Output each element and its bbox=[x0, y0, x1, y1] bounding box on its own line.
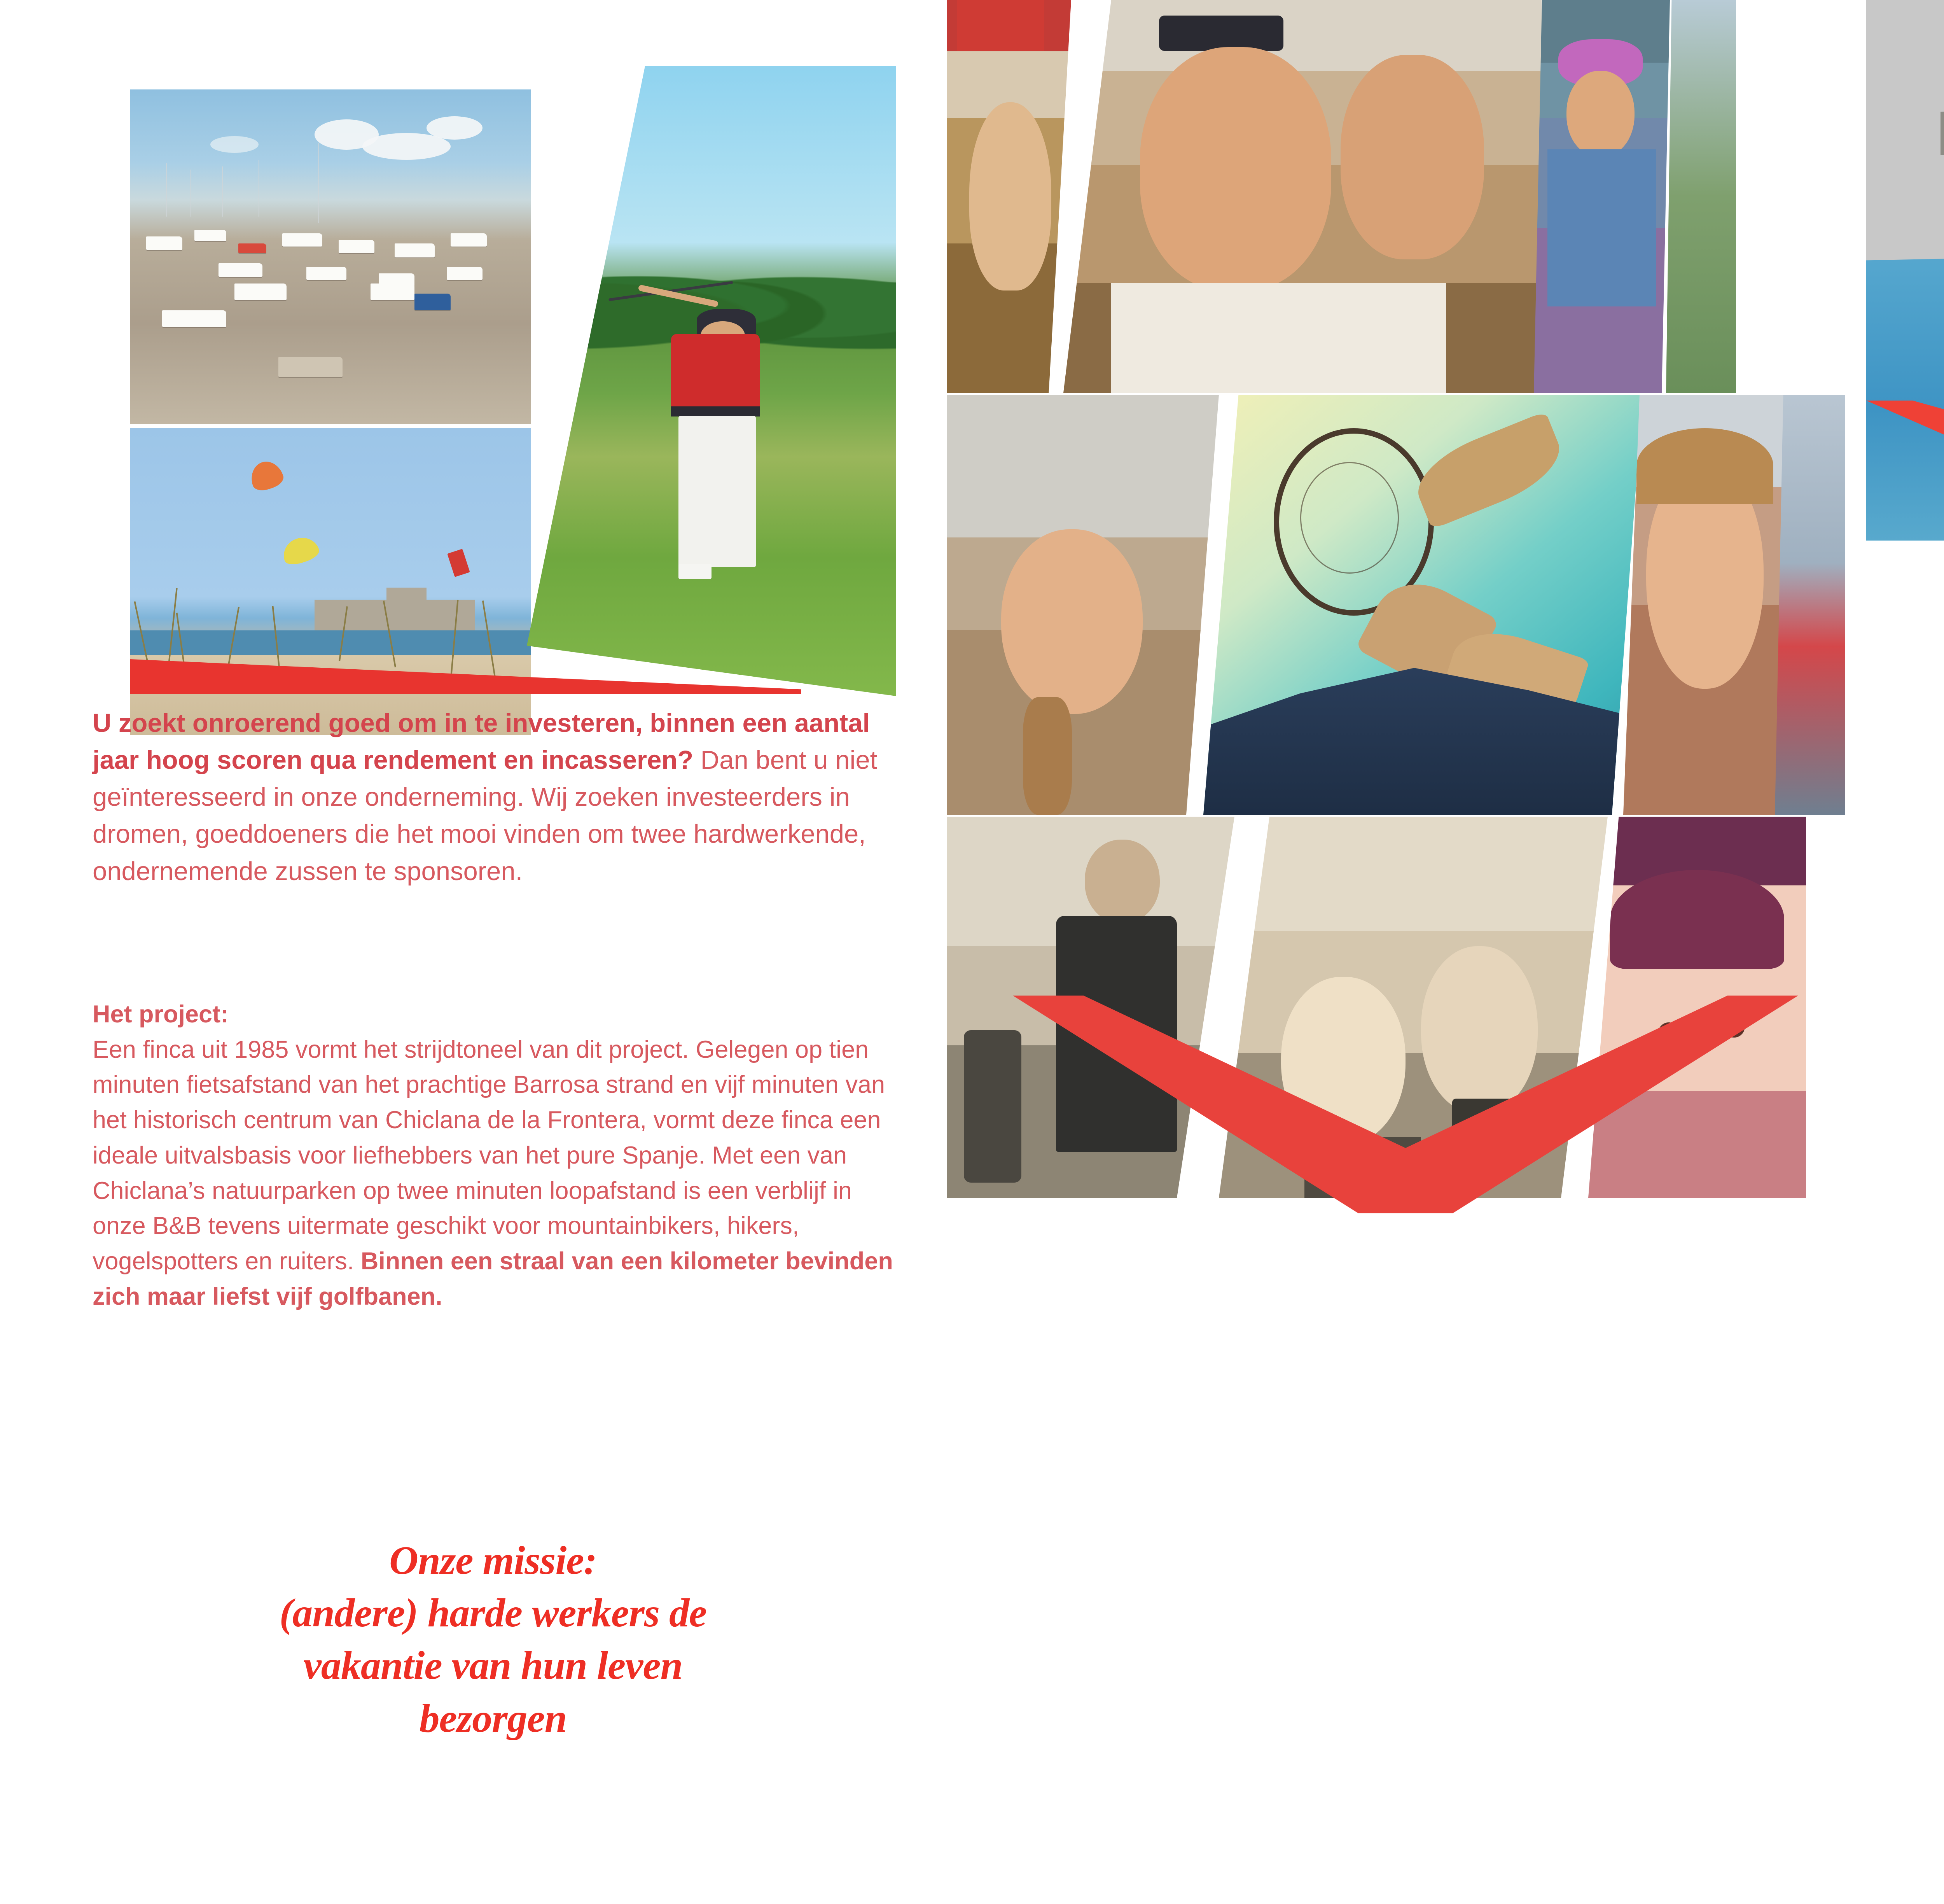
lead-paragraph: U zoekt onroerend goed om in te invester… bbox=[93, 705, 893, 890]
project-heading: Het project: bbox=[93, 997, 897, 1032]
two-women-smiling-photo bbox=[1063, 0, 1542, 393]
center-top-right-sliver bbox=[1666, 0, 1736, 393]
mission-line-3: vakantie van hun leven bbox=[93, 1639, 893, 1692]
woman-flower-crown-photo bbox=[1534, 0, 1670, 393]
villa-pool-photo bbox=[1866, 0, 1944, 541]
mission-line-2: (andere) harde werkers de bbox=[93, 1587, 893, 1639]
golfer-photo bbox=[527, 66, 896, 696]
project-body: Een finca uit 1985 vormt het strijdtonee… bbox=[93, 1036, 885, 1275]
woman-bunny-ears-photo bbox=[947, 0, 1071, 393]
left-photo-collage bbox=[117, 66, 894, 649]
right-panel: Bed & Breakfast zoekt sponsoren * Innova… bbox=[1866, 0, 1944, 1904]
pool-water-shape bbox=[1866, 248, 1944, 541]
mission-statement: Onze missie: (andere) harde werkers de v… bbox=[93, 1534, 893, 1745]
villa-roof-shape bbox=[1941, 83, 1944, 155]
center-photo-collage bbox=[947, 0, 1866, 1198]
center-mid-right-sliver bbox=[1775, 395, 1845, 815]
harbour-boats-photo bbox=[130, 89, 531, 424]
woman-braid-photo bbox=[947, 395, 1219, 815]
left-panel: U zoekt onroerend goed om in te invester… bbox=[0, 0, 947, 1904]
center-panel: Las dos hermanas Kim & Wendy Schultze Pr… bbox=[947, 0, 1866, 1904]
mission-line-1: Onze missie: bbox=[93, 1534, 893, 1587]
dreamcatcher-sky-photo bbox=[1203, 395, 1643, 815]
woman-portrait-photo bbox=[1623, 395, 1787, 815]
mission-line-4: bezorgen bbox=[93, 1692, 893, 1745]
project-block: Het project:Een finca uit 1985 vormt het… bbox=[93, 997, 897, 1314]
